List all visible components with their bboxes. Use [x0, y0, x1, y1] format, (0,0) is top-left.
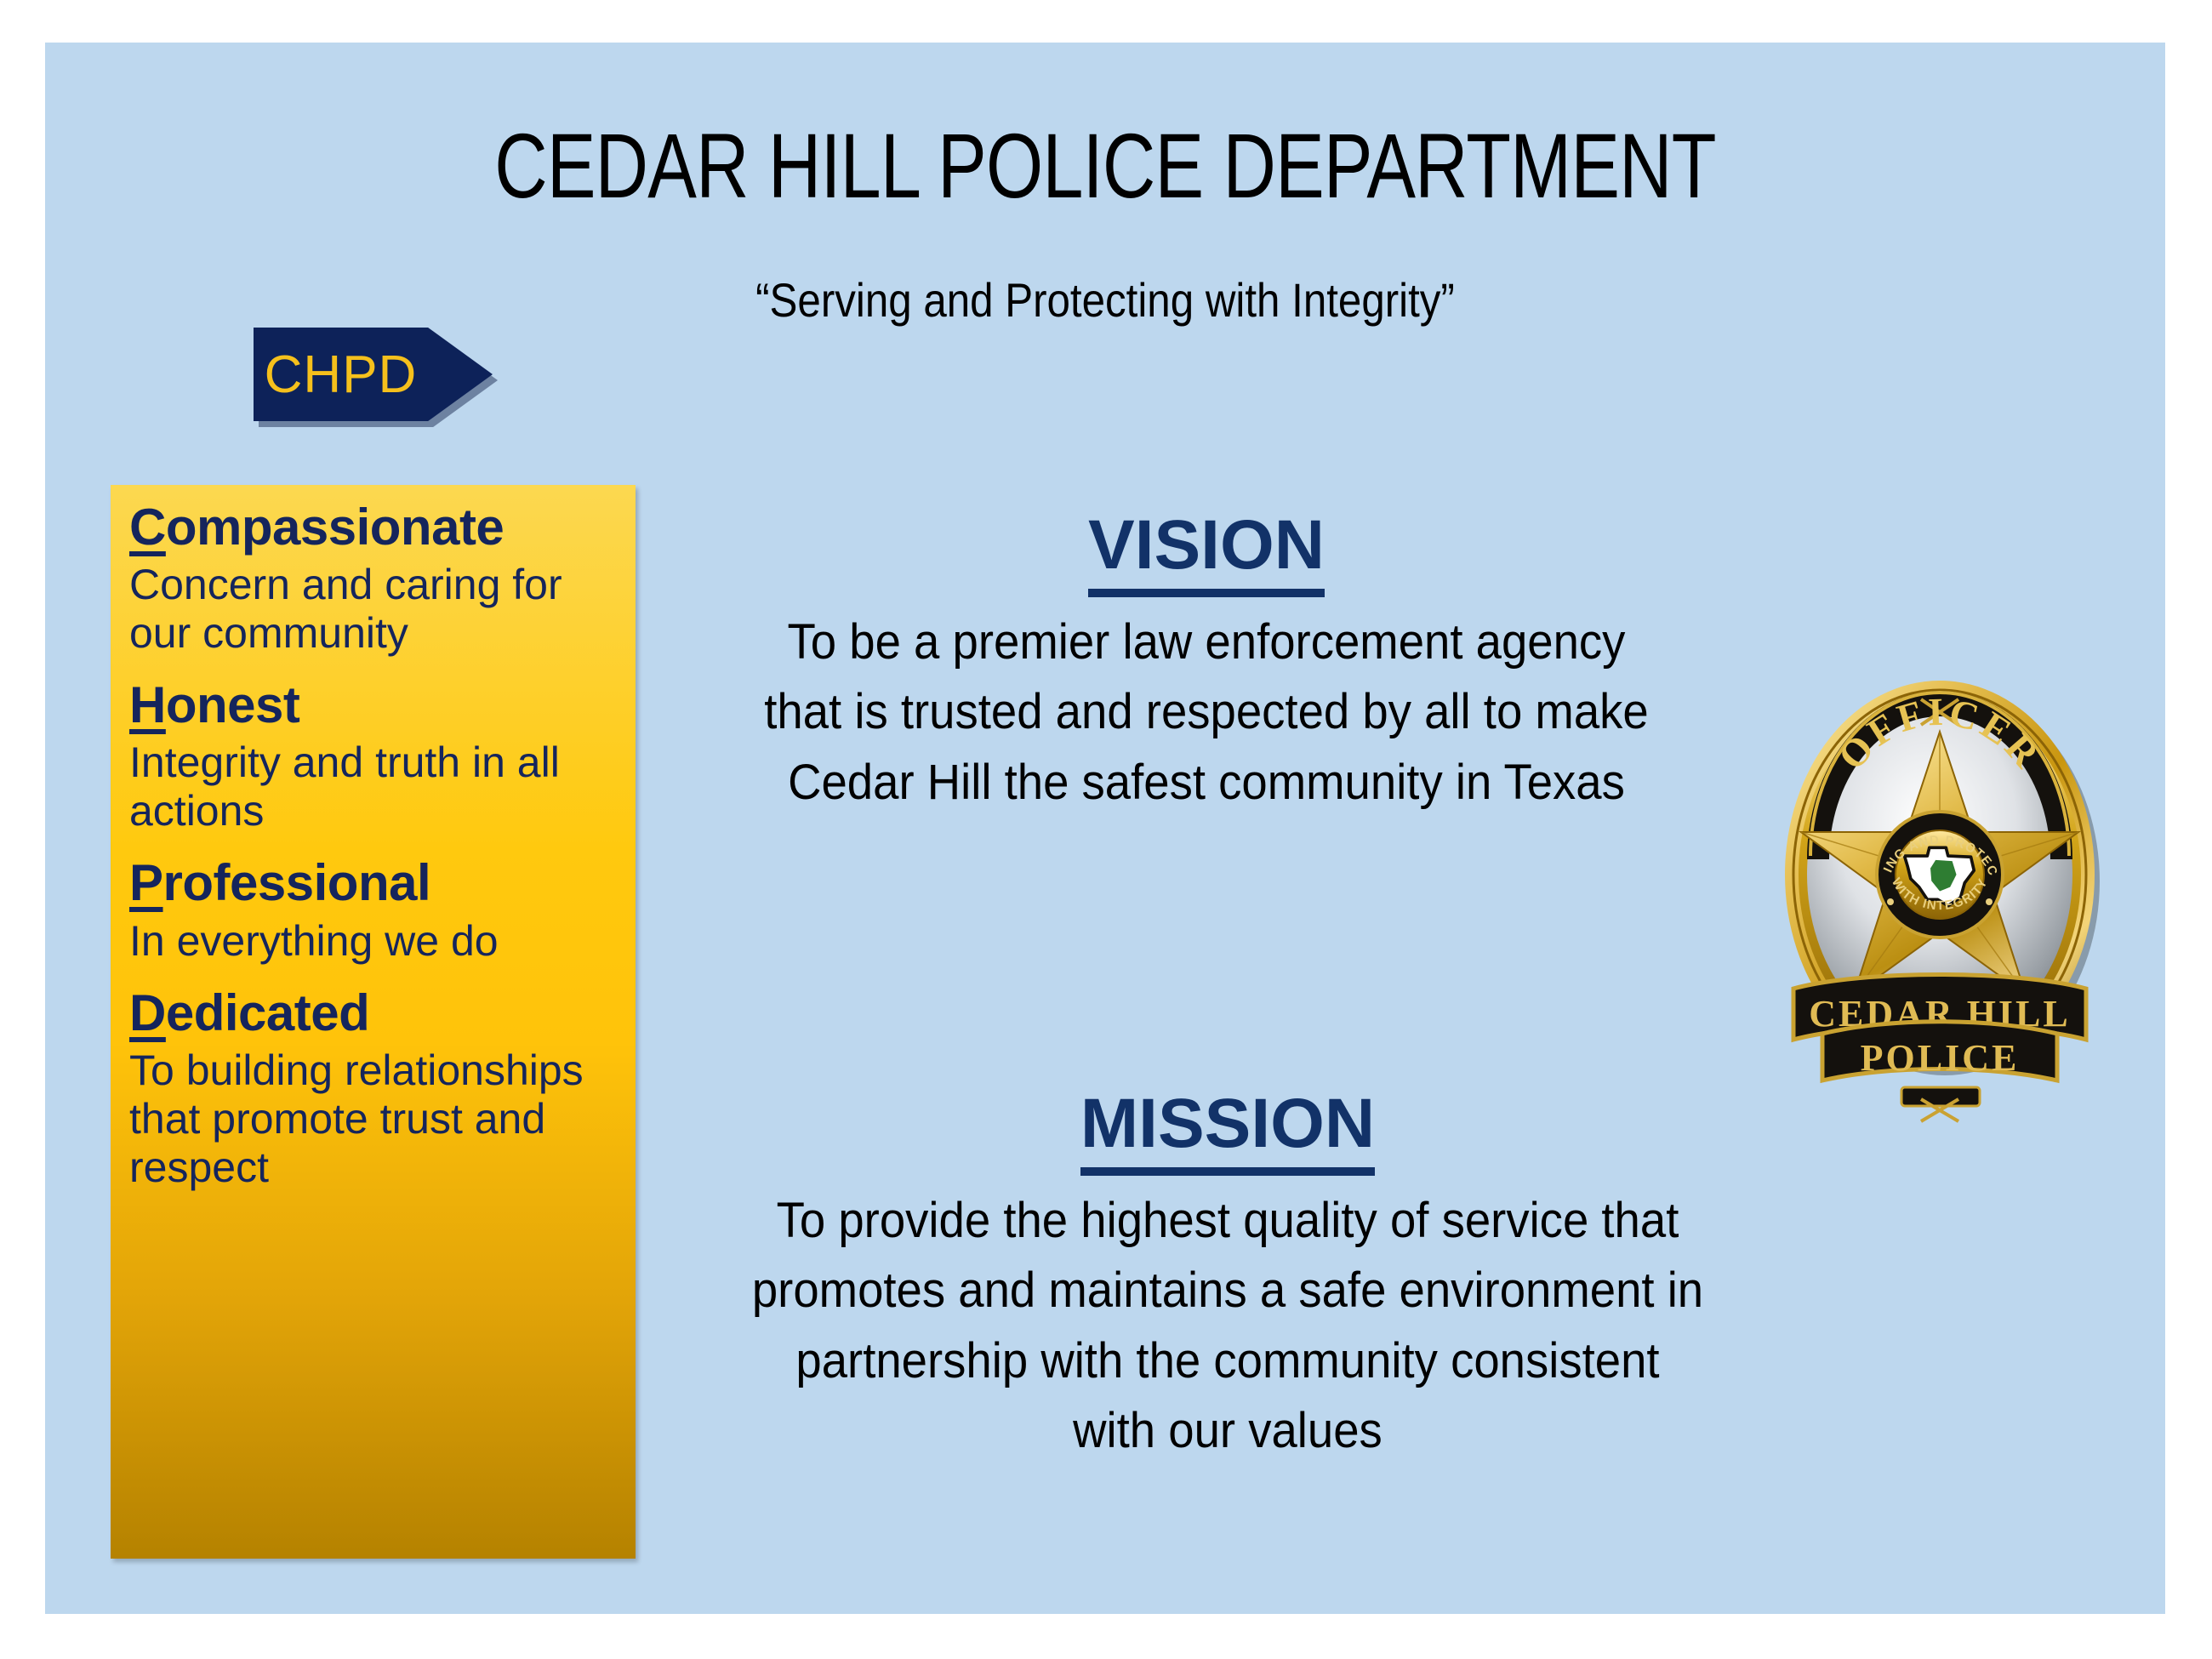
vision-body: To be a premier law enforcement agency t… — [675, 607, 1738, 818]
vision-heading: VISION — [1088, 509, 1325, 597]
mission-heading: MISSION — [1080, 1087, 1375, 1176]
value-title-professional: Professional — [129, 854, 617, 911]
vision-section: VISION To be a premier law enforcement a… — [641, 509, 1772, 818]
value-item-dedicated: Dedicated To building relationships that… — [129, 984, 617, 1192]
value-desc-dedicated: To building relationships that promote t… — [129, 1046, 617, 1192]
svg-text:POLICE: POLICE — [1861, 1037, 2020, 1079]
value-rest-dedicated: edicated — [166, 984, 369, 1041]
mission-section: MISSION To provide the highest quality o… — [641, 1087, 1815, 1467]
value-item-honest: Honest Integrity and truth in all action… — [129, 676, 617, 835]
value-initial-c: C — [129, 499, 166, 556]
value-title-compassionate: Compassionate — [129, 499, 617, 556]
police-badge-icon: OFFICER SERVING AND PROTECTING WITH INTE… — [1770, 604, 2110, 1140]
vision-line-3: Cedar Hill the safest community in Texas — [675, 748, 1738, 818]
mission-line-1: To provide the highest quality of servic… — [676, 1186, 1779, 1256]
mission-line-2: promotes and maintains a safe environmen… — [676, 1256, 1779, 1325]
value-desc-honest: Integrity and truth in all actions — [129, 738, 617, 835]
vision-line-2: that is trusted and respected by all to … — [675, 677, 1738, 747]
value-title-honest: Honest — [129, 676, 617, 733]
value-initial-d: D — [129, 984, 166, 1041]
chpd-logo: CHPD — [254, 328, 493, 421]
page-title: CEDAR HILL POLICE DEPARTMENT — [257, 117, 1953, 214]
value-rest-honest: onest — [166, 676, 300, 733]
slide-canvas: CEDAR HILL POLICE DEPARTMENT “Serving an… — [45, 43, 2165, 1614]
value-rest-professional: rofessional — [163, 854, 431, 911]
value-initial-h: H — [129, 676, 166, 733]
mission-line-3: partnership with the community consisten… — [676, 1326, 1779, 1396]
mission-body: To provide the highest quality of servic… — [676, 1186, 1779, 1466]
value-title-dedicated: Dedicated — [129, 984, 617, 1041]
department-tagline: “Serving and Protecting with Integrity” — [173, 272, 2038, 328]
value-item-professional: Professional In everything we do — [129, 854, 617, 965]
core-values-panel: Compassionate Concern and caring for our… — [111, 485, 636, 1559]
value-desc-professional: In everything we do — [129, 917, 617, 966]
value-desc-compassionate: Concern and caring for our community — [129, 561, 617, 658]
value-item-compassionate: Compassionate Concern and caring for our… — [129, 499, 617, 658]
vision-line-1: To be a premier law enforcement agency — [675, 607, 1738, 677]
value-initial-p: P — [129, 854, 163, 911]
chpd-logo-label: CHPD — [254, 328, 428, 421]
value-rest-compassionate: ompassionate — [166, 499, 504, 556]
mission-line-4: with our values — [676, 1396, 1779, 1466]
